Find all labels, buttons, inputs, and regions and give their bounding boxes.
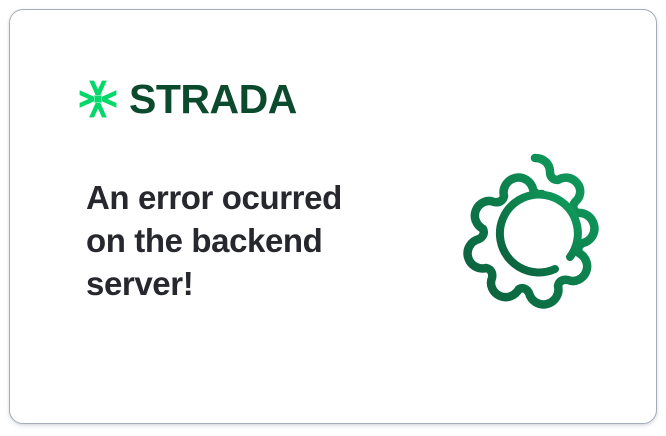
strada-starburst-icon <box>78 79 118 119</box>
brand-wordmark: STRADA <box>129 79 297 120</box>
error-page: STRADA An error ocurred on the backend s… <box>0 0 666 436</box>
brand-lockup: STRADA <box>78 70 297 128</box>
gear-cog-icon <box>454 151 616 311</box>
error-card: STRADA An error ocurred on the backend s… <box>9 9 657 424</box>
error-message: An error ocurred on the backend server! <box>86 176 386 305</box>
gear-illustration <box>454 151 616 311</box>
